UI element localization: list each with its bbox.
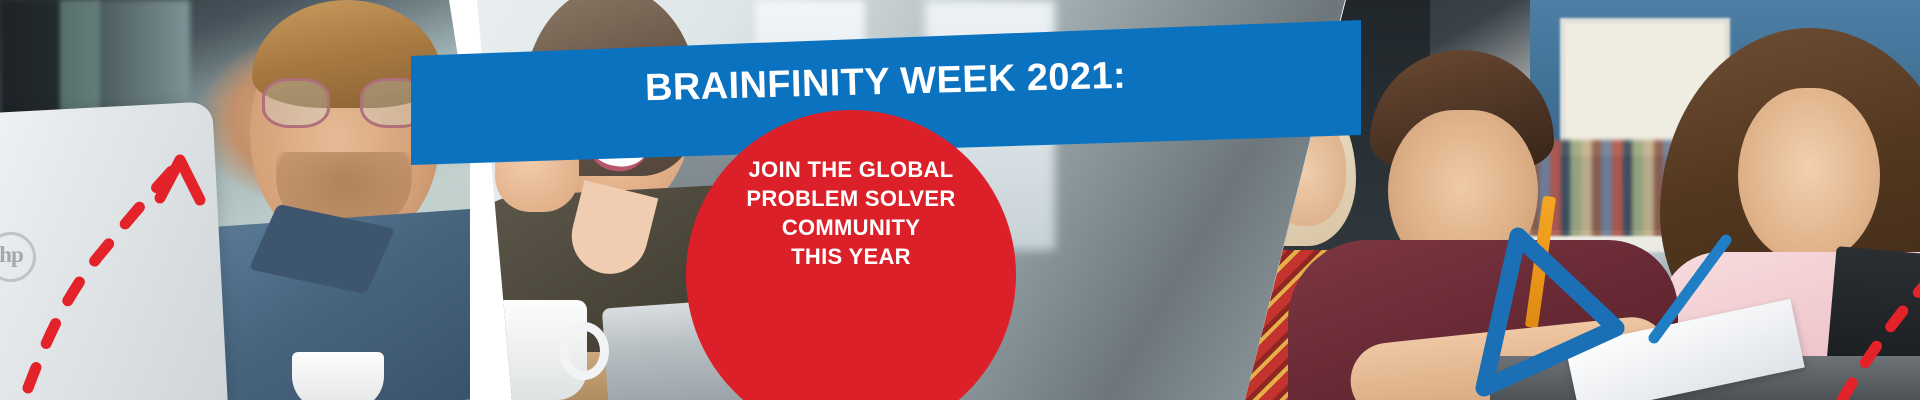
man-eyeglasses [262, 78, 428, 122]
callout-line-3: COMMUNITY [686, 213, 1016, 242]
photo-man-at-laptop-image: hp [0, 0, 470, 400]
callout-line-1: JOIN THE GLOBAL [686, 155, 1016, 184]
coffee-cup [292, 352, 384, 400]
girl-student-face [1738, 88, 1880, 264]
callout-line-2: PROBLEM SOLVER [686, 184, 1016, 213]
red-callout-text: JOIN THE GLOBAL PROBLEM SOLVER COMMUNITY… [686, 155, 1016, 271]
white-mug [477, 300, 587, 400]
brainfinity-week-banner: hp [0, 0, 1920, 400]
photo-panel-man-at-laptop: hp [0, 0, 470, 400]
callout-line-4: THIS YEAR [686, 242, 1016, 271]
